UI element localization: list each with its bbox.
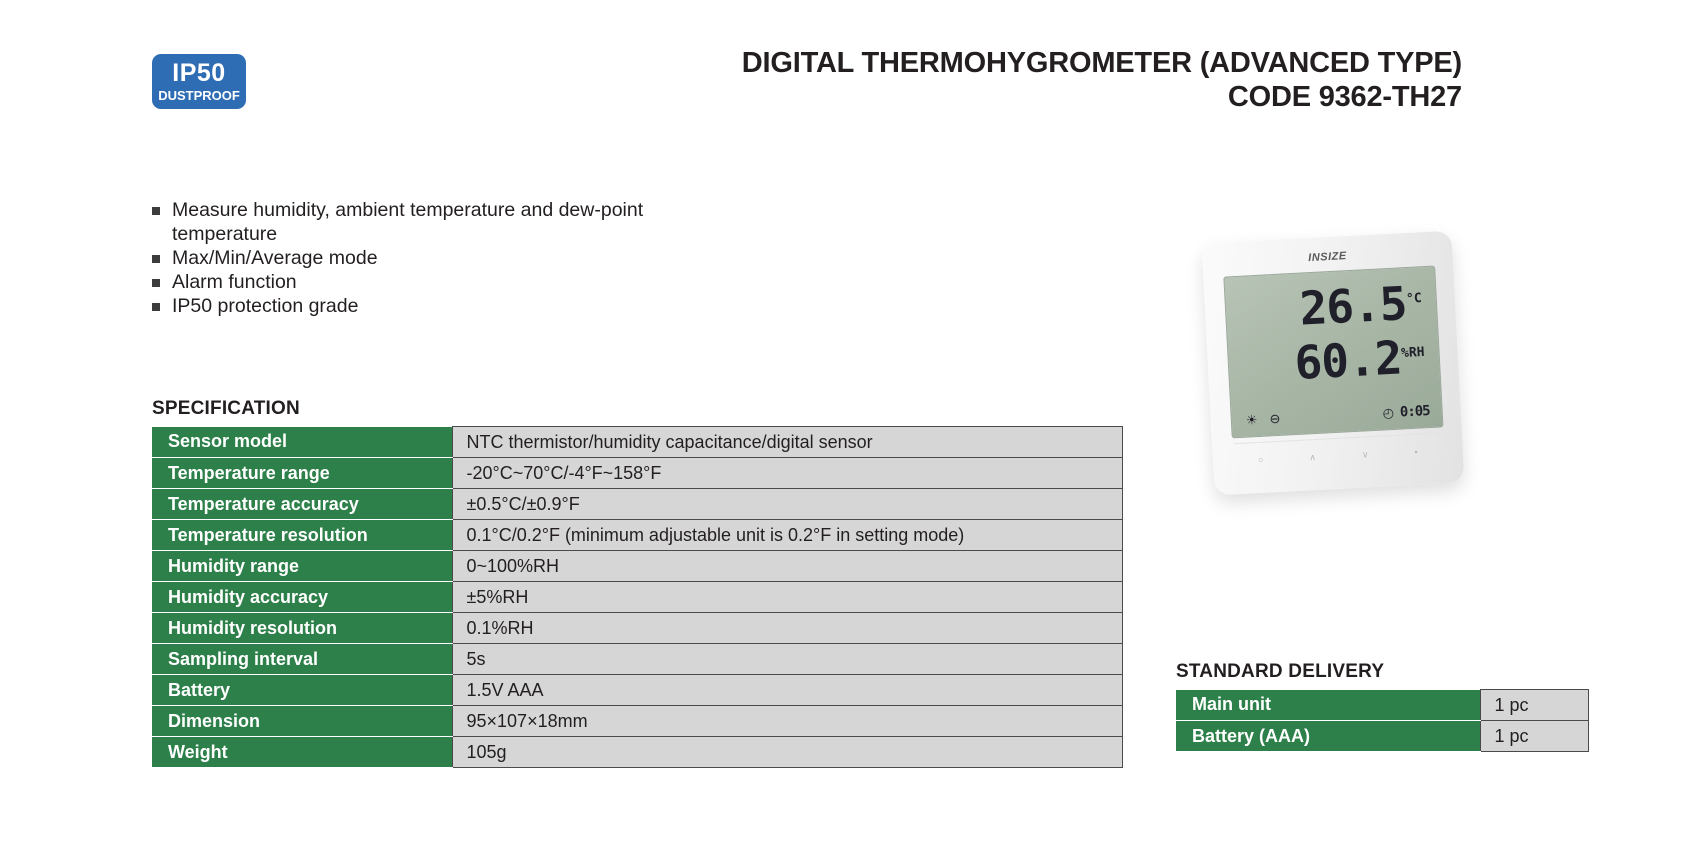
- square-bullet-icon: [152, 255, 160, 263]
- list-item: Alarm function: [152, 270, 672, 294]
- spec-key: Dimension: [152, 706, 452, 737]
- lcd-clock-value: 0:05: [1400, 403, 1431, 421]
- feature-text: Measure humidity, ambient temperature an…: [172, 198, 672, 246]
- spec-value: -20°C~70°C/-4°F~158°F: [452, 458, 1122, 489]
- list-item: Max/Min/Average mode: [152, 246, 672, 270]
- table-row: Humidity accuracy ±5%RH: [152, 582, 1122, 613]
- device-button-set[interactable]: ▪: [1414, 447, 1418, 457]
- lcd-status-icons: ☀ ⊖ ◴ 0:05: [1245, 403, 1430, 429]
- lcd-temperature-unit: °C: [1406, 291, 1422, 307]
- spec-key: Sampling interval: [152, 644, 452, 675]
- thermohygrometer-device: INSIZE 26.5°C 60.2%RH ☀ ⊖ ◴ 0:05 ○ ∧ ∨ ▪: [1202, 231, 1465, 496]
- specification-table: Sensor model NTC thermistor/humidity cap…: [152, 426, 1123, 768]
- standard-delivery-table: Main unit 1 pc Battery (AAA) 1 pc: [1176, 689, 1589, 752]
- standard-delivery-heading: STANDARD DELIVERY: [1176, 661, 1384, 683]
- spec-key: Temperature range: [152, 458, 452, 489]
- square-bullet-icon: [152, 303, 160, 311]
- feature-text: IP50 protection grade: [172, 294, 358, 318]
- spec-key: Humidity range: [152, 551, 452, 582]
- ip50-badge-sub-label: DUSTPROOF: [158, 89, 240, 102]
- table-row: Temperature resolution 0.1°C/0.2°F (mini…: [152, 520, 1122, 551]
- delivery-item-qty: 1 pc: [1480, 690, 1588, 721]
- lcd-temperature-reading: 26.5°C: [1298, 275, 1423, 335]
- device-button-down[interactable]: ∨: [1362, 449, 1369, 460]
- feature-text: Max/Min/Average mode: [172, 246, 378, 270]
- table-row: Battery 1.5V AAA: [152, 675, 1122, 706]
- lcd-humidity-value: 60.2: [1293, 330, 1402, 390]
- sun-icon: ☀: [1245, 412, 1257, 429]
- lcd-display: 26.5°C 60.2%RH ☀ ⊖ ◴ 0:05: [1223, 266, 1443, 439]
- spec-value: 0~100%RH: [452, 551, 1122, 582]
- device-button-bar: ○ ∧ ∨ ▪: [1234, 433, 1442, 479]
- spec-value: 5s: [452, 644, 1122, 675]
- table-row: Humidity resolution 0.1%RH: [152, 613, 1122, 644]
- spec-value: NTC thermistor/humidity capacitance/digi…: [452, 427, 1122, 458]
- table-row: Main unit 1 pc: [1176, 690, 1588, 721]
- table-row: Battery (AAA) 1 pc: [1176, 721, 1588, 752]
- lcd-humidity-unit: %RH: [1401, 345, 1425, 361]
- spec-value: ±0.5°C/±0.9°F: [452, 489, 1122, 520]
- spec-value: ±5%RH: [452, 582, 1122, 613]
- spec-key: Temperature resolution: [152, 520, 452, 551]
- spec-key: Humidity resolution: [152, 613, 452, 644]
- spec-value: 1.5V AAA: [452, 675, 1122, 706]
- table-row: Sampling interval 5s: [152, 644, 1122, 675]
- spec-value: 0.1°C/0.2°F (minimum adjustable unit is …: [452, 520, 1122, 551]
- device-button-up[interactable]: ∧: [1309, 452, 1316, 463]
- spec-key: Temperature accuracy: [152, 489, 452, 520]
- page-title: DIGITAL THERMOHYGROMETER (ADVANCED TYPE)…: [742, 46, 1462, 114]
- lcd-temperature-value: 26.5: [1298, 276, 1407, 336]
- table-row: Humidity range 0~100%RH: [152, 551, 1122, 582]
- lcd-humidity-reading: 60.2%RH: [1293, 329, 1426, 390]
- ip50-dustproof-badge: IP50 DUSTPROOF: [152, 54, 246, 109]
- table-row: Temperature accuracy ±0.5°C/±0.9°F: [152, 489, 1122, 520]
- spec-value: 105g: [452, 737, 1122, 768]
- spec-key: Battery: [152, 675, 452, 706]
- square-bullet-icon: [152, 279, 160, 287]
- table-row: Temperature range -20°C~70°C/-4°F~158°F: [152, 458, 1122, 489]
- feature-list: Measure humidity, ambient temperature an…: [152, 198, 672, 318]
- spec-key: Humidity accuracy: [152, 582, 452, 613]
- spec-value: 0.1%RH: [452, 613, 1122, 644]
- spec-value: 95×107×18mm: [452, 706, 1122, 737]
- feature-text: Alarm function: [172, 270, 297, 294]
- table-row: Dimension 95×107×18mm: [152, 706, 1122, 737]
- page-title-line-1: DIGITAL THERMOHYGROMETER (ADVANCED TYPE): [742, 46, 1462, 80]
- list-item: IP50 protection grade: [152, 294, 672, 318]
- product-photo: INSIZE 26.5°C 60.2%RH ☀ ⊖ ◴ 0:05 ○ ∧ ∨ ▪: [1120, 225, 1520, 555]
- page-title-line-2: CODE 9362-TH27: [742, 80, 1462, 114]
- comfort-face-icon: ⊖: [1269, 411, 1281, 428]
- spec-key: Sensor model: [152, 427, 452, 458]
- delivery-item-name: Battery (AAA): [1176, 721, 1480, 752]
- ip50-badge-main-label: IP50: [172, 61, 225, 86]
- specification-heading: SPECIFICATION: [152, 398, 300, 420]
- delivery-item-qty: 1 pc: [1480, 721, 1588, 752]
- spec-key: Weight: [152, 737, 452, 768]
- delivery-item-name: Main unit: [1176, 690, 1480, 721]
- device-button-mode[interactable]: ○: [1258, 455, 1264, 465]
- table-row: Weight 105g: [152, 737, 1122, 768]
- clock-icon: ◴: [1382, 405, 1394, 422]
- list-item: Measure humidity, ambient temperature an…: [152, 198, 672, 246]
- square-bullet-icon: [152, 207, 160, 215]
- table-row: Sensor model NTC thermistor/humidity cap…: [152, 427, 1122, 458]
